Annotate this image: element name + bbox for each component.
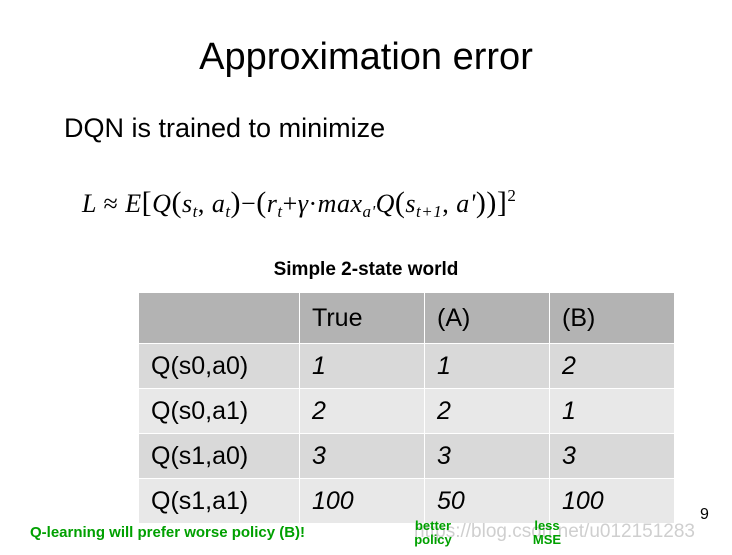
- table-caption: Simple 2-state world: [0, 259, 732, 281]
- annotation-less-line2: MSE: [522, 533, 572, 547]
- cell-true: 3: [300, 434, 425, 479]
- q-values-table: True (A) (B) Q(s0,a0) 1 1 2 Q(s0,a1) 2 2…: [138, 292, 675, 524]
- cell-a: 50: [425, 479, 550, 524]
- cell-true: 2: [300, 389, 425, 434]
- annotation-better-line2: policy: [403, 533, 463, 547]
- row-label: Q(s1,a1): [139, 479, 300, 524]
- cell-b: 100: [550, 479, 675, 524]
- footnote-text: Q-learning will prefer worse policy (B)!: [30, 524, 305, 541]
- table-row: Q(s0,a0) 1 1 2: [139, 344, 675, 389]
- header-cell-a: (A): [425, 293, 550, 344]
- cell-b: 2: [550, 344, 675, 389]
- header-cell-b: (B): [550, 293, 675, 344]
- page-number: 9: [700, 506, 709, 524]
- table-row: Q(s1,a1) 100 50 100: [139, 479, 675, 524]
- annotation-better-policy: better policy: [403, 519, 463, 547]
- cell-a: 3: [425, 434, 550, 479]
- table-row: Q(s1,a0) 3 3 3: [139, 434, 675, 479]
- table-header-row: True (A) (B): [139, 293, 675, 344]
- cell-true: 1: [300, 344, 425, 389]
- header-cell-blank: [139, 293, 300, 344]
- cell-true: 100: [300, 479, 425, 524]
- row-label: Q(s1,a0): [139, 434, 300, 479]
- row-label: Q(s0,a0): [139, 344, 300, 389]
- slide-canvas: Approximation error DQN is trained to mi…: [0, 0, 732, 555]
- annotation-less-mse: less MSE: [522, 519, 572, 547]
- header-cell-true: True: [300, 293, 425, 344]
- page-title: Approximation error: [0, 36, 732, 79]
- cell-b: 3: [550, 434, 675, 479]
- cell-b: 1: [550, 389, 675, 434]
- annotation-less-line1: less: [522, 519, 572, 533]
- cell-a: 2: [425, 389, 550, 434]
- annotation-better-line1: better: [403, 519, 463, 533]
- row-label: Q(s0,a1): [139, 389, 300, 434]
- cell-a: 1: [425, 344, 550, 389]
- subtitle-text: DQN is trained to minimize: [64, 113, 385, 144]
- table-row: Q(s0,a1) 2 2 1: [139, 389, 675, 434]
- loss-formula: L ≈ E[Q(st, at)−(rt+γ·maxa'Q(st+1, a'))]…: [82, 186, 662, 222]
